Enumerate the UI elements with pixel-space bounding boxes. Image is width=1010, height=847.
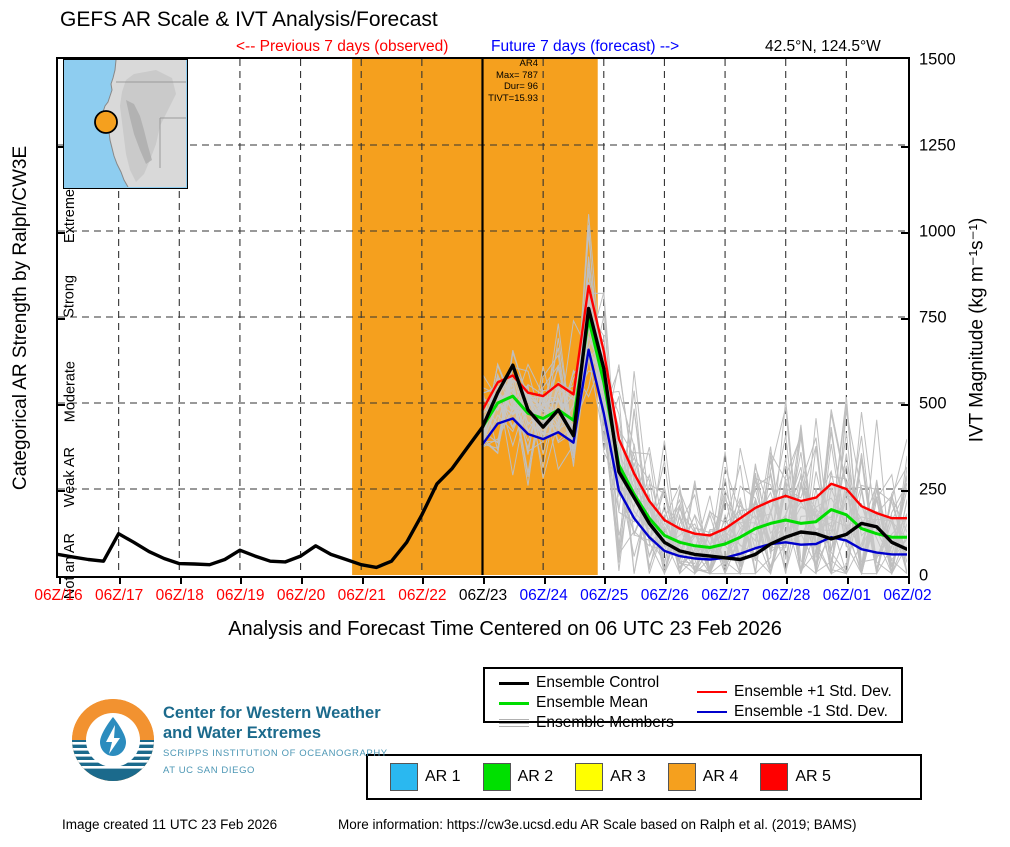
x-axis-tick-label: 06Z/02 [883,587,931,605]
ar-annotation-dur: Dur= 96 [448,81,538,93]
logo-sub-2: AT UC SAN DIEGO [163,765,388,777]
x-axis-tick-mark [119,576,121,584]
legend-item-label: Ensemble +1 Std. Dev. [734,683,892,701]
ar-scale-legend-item: AR 1 [390,763,461,791]
legend-column-right: Ensemble +1 Std. Dev.Ensemble -1 Std. De… [697,682,892,722]
y-axis-left-tick-label: Strong [62,275,78,318]
x-axis-tick-mark [483,576,485,584]
y-axis-right-tick-mark [901,490,910,492]
legend-item: Ensemble -1 Std. Dev. [697,702,892,722]
x-axis-tick-label: 06Z/19 [216,587,264,605]
location-marker-dot [95,111,117,133]
y-axis-right-tick-label: 1000 [919,222,956,241]
y-axis-right-tick-label: 500 [919,394,947,413]
legend-item: Ensemble Mean [499,693,674,713]
ar-scale-legend-box: AR 1AR 2AR 3AR 4AR 5 [366,754,922,800]
legend-item: Ensemble Control [499,673,674,693]
x-axis-tick-label: 06Z/25 [580,587,628,605]
ar-scale-label: AR 3 [610,768,646,786]
ar-annotation-tivt: TIVT=15.93 [448,93,538,105]
footer-created-text: Image created 11 UTC 23 Feb 2026 [62,817,277,832]
inset-location-map [63,59,188,189]
ar-scale-label: AR 1 [425,768,461,786]
y-axis-left-tick-label: Weak AR [62,447,78,507]
y-axis-right-tick-mark [901,232,910,234]
x-axis-tick-mark [786,576,788,584]
y-axis-left-title: Categorical AR Strength by Ralph/CW3E [8,57,34,578]
y-axis-right-tick-label: 750 [919,308,947,327]
y-axis-left-tick-mark [56,404,65,406]
legend-item: Ensemble +1 Std. Dev. [697,682,892,702]
inset-map-svg [64,60,186,187]
legend-item: Ensemble Members [499,713,674,733]
ar-scale-swatch [760,763,788,791]
ar-scale-swatch [390,763,418,791]
y-axis-right-tick-label: 1500 [919,50,956,69]
y-axis-right-tick-label: 250 [919,480,947,499]
x-axis-tick-label: 06Z/28 [762,587,810,605]
x-axis-tick-mark [59,576,61,584]
legend-swatch-line [697,691,727,693]
x-axis-tick-label: 06Z/20 [277,587,325,605]
header-previous-label: <-- Previous 7 days (observed) [236,38,448,56]
ar-scale-legend-item: AR 5 [760,763,831,791]
cw3e-logo [70,697,156,783]
x-axis-tick-mark [604,576,606,584]
y-axis-right-tick-label: 1250 [919,136,956,155]
y-axis-left-tick-label: Moderate [62,361,78,422]
logo-text-block: Center for Western Weather and Water Ext… [163,703,388,777]
x-axis-tick-mark [180,576,182,584]
legend-swatch-line [499,702,529,705]
legend-item-label: Ensemble -1 Std. Dev. [734,703,888,721]
ar-scale-label: AR 2 [518,768,554,786]
legend-column-left: Ensemble ControlEnsemble MeanEnsemble Me… [499,673,674,733]
ar-scale-legend-item: AR 4 [668,763,739,791]
ar-scale-swatch [668,763,696,791]
x-axis-tick-mark [544,576,546,584]
y-axis-right-title-text: IVT Magnitude (kg m⁻¹s⁻¹) [966,218,989,443]
x-axis-tick-label: 06Z/17 [95,587,143,605]
cw3e-logo-svg [70,697,156,783]
legend-item-label: Ensemble Mean [536,694,648,712]
y-axis-left-tick-mark [56,490,65,492]
header-coordinates: 42.5°N, 124.5°W [765,38,881,56]
ar-scale-legend-item: AR 3 [575,763,646,791]
logo-line-1: Center for Western Weather [163,703,388,723]
x-axis-tick-mark [665,576,667,584]
x-axis-tick-label: 06Z/23 [459,587,507,605]
ar-scale-label: AR 5 [795,768,831,786]
ar-scale-label: AR 4 [703,768,739,786]
y-axis-left-tick-label: Extreme [62,189,78,243]
x-axis-tick-label: 06Z/18 [156,587,204,605]
x-axis-title: Analysis and Forecast Time Centered on 0… [0,618,1010,641]
legend-swatch-multiline [499,717,529,730]
x-axis-tick-label: 06Z/27 [701,587,749,605]
y-axis-left-tick-mark [56,232,65,234]
x-axis-tick-mark [847,576,849,584]
y-axis-right-tick-mark [901,318,910,320]
y-axis-left-title-text: Categorical AR Strength by Ralph/CW3E [10,145,32,489]
legend-swatch-line [499,682,529,685]
y-axis-right-tick-mark [901,146,910,148]
x-axis-tick-label: 06Z/01 [823,587,871,605]
x-axis-tick-mark [240,576,242,584]
x-axis-tick-mark [726,576,728,584]
ar-annotation-label: AR4 [448,58,538,70]
ar-annotation-max: Max= 787 [448,70,538,82]
page-title: GEFS AR Scale & IVT Analysis/Forecast [60,8,438,32]
x-axis-tick-mark [908,576,910,584]
x-axis-tick-label: 06Z/26 [641,587,689,605]
legend-item-label: Ensemble Control [536,674,659,692]
ar-scale-swatch [575,763,603,791]
y-axis-right-title: IVT Magnitude (kg m⁻¹s⁻¹) [960,140,994,520]
ar-scale-legend-item: AR 2 [483,763,554,791]
y-axis-right-tick-mark [901,404,910,406]
logo-sub-1: SCRIPPS INSTITUTION OF OCEANOGRAPHY [163,748,388,760]
legend-swatch-line [697,711,727,713]
y-axis-left-tick-mark [56,318,65,320]
ar-scale-swatch [483,763,511,791]
x-axis-tick-label: 06Z/21 [338,587,386,605]
x-axis-tick-label: 06Z/24 [520,587,568,605]
line-legend-box: Ensemble ControlEnsemble MeanEnsemble Me… [483,667,903,723]
logo-line-2: and Water Extremes [163,723,388,743]
header-future-label: Future 7 days (forecast) --> [491,38,679,56]
x-axis-tick-label: 06Z/22 [398,587,446,605]
ar-event-annotation: AR4 Max= 787 Dur= 96 TIVT=15.93 [448,58,538,104]
x-axis-tick-mark [422,576,424,584]
y-axis-right-tick-label: 0 [919,566,928,585]
footer-info-text: More information: https://cw3e.ucsd.edu … [338,817,857,832]
x-axis-tick-label: 06Z/16 [34,587,82,605]
x-axis-tick-mark [301,576,303,584]
x-axis-tick-mark [362,576,364,584]
legend-item-label: Ensemble Members [536,714,674,732]
